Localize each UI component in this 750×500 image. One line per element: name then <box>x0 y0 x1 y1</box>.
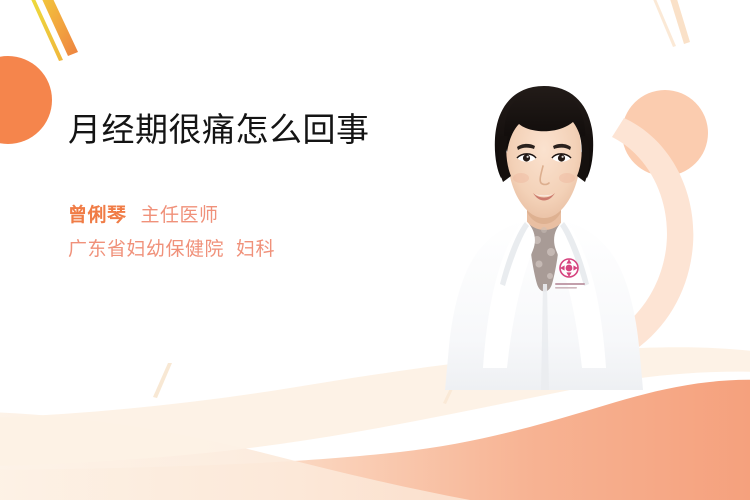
doctor-title: 主任医师 <box>141 202 219 231</box>
wave-salmon <box>0 380 750 500</box>
page-title: 月经期很痛怎么回事 <box>68 108 428 152</box>
doctor-hospital: 广东省妇幼保健院 <box>68 236 224 265</box>
doctor-meta: 曾俐琴 主任医师 广东省妇幼保健院 妇科 <box>68 202 428 265</box>
faint-line-bottomleft <box>153 363 172 398</box>
orange-circle <box>0 56 52 144</box>
doctor-department: 妇科 <box>236 236 275 265</box>
hospital-badge-icon <box>560 259 578 277</box>
wave-cream <box>0 412 470 500</box>
stripe-faint-topright-thick <box>666 0 690 44</box>
doctor-portrait <box>437 78 652 390</box>
doctor-portrait-illustration <box>437 78 652 390</box>
doctor-name: 曾俐琴 <box>68 202 127 231</box>
stripe-faint-topright-thin <box>650 0 676 47</box>
doctor-affiliation-row: 广东省妇幼保健院 妇科 <box>68 236 428 265</box>
cheek-left <box>513 173 529 183</box>
text-block: 月经期很痛怎么回事 曾俐琴 主任医师 广东省妇幼保健院 妇科 <box>68 108 428 265</box>
doctor-name-row: 曾俐琴 主任医师 <box>68 202 428 231</box>
cheek-right <box>559 173 575 183</box>
stripe-yellow-topleft <box>25 0 63 61</box>
doctor-article-banner: 月经期很痛怎么回事 曾俐琴 主任医师 广东省妇幼保健院 妇科 <box>0 0 750 500</box>
stripe-orange-topleft <box>36 0 78 56</box>
